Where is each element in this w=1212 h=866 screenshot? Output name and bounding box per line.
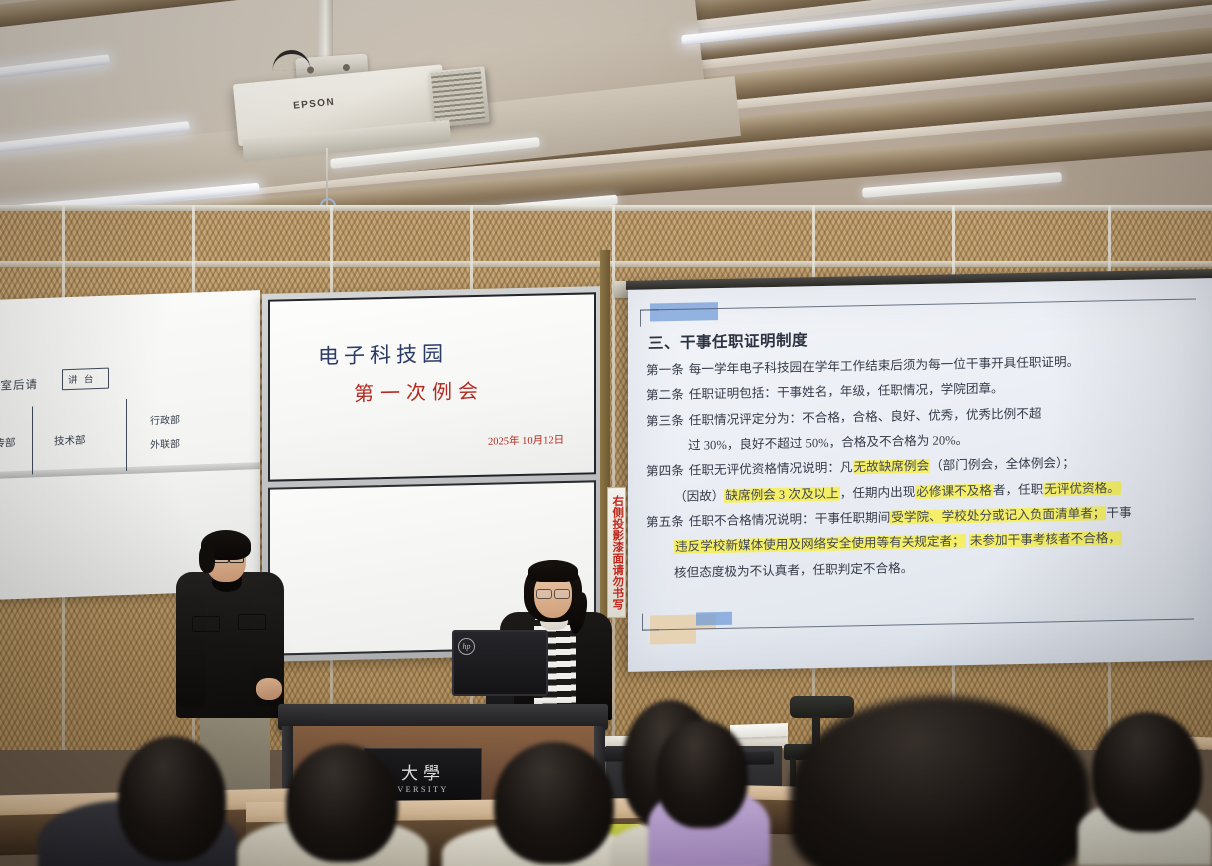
org-chart-node: 宣传部 (0, 435, 16, 451)
audience-member (656, 720, 748, 828)
slide-line: （因故）缺席例会 3 次及以上，任期内出现必修课不及格者，任职无评优资格。 (646, 480, 1200, 504)
eyeglasses-lens (554, 589, 570, 599)
audience-member (118, 736, 226, 862)
whiteboard-title-line2: 第一次例会 (354, 375, 484, 407)
slide-line: 第五条任职不合格情况说明：干事任职期间受学院、学校处分或记入负面清单者；干事 (646, 505, 1200, 529)
audience-member (494, 742, 614, 864)
speaker-hands (256, 678, 282, 700)
speaker-arm-left (176, 596, 206, 708)
classroom-chair-back[interactable] (790, 696, 854, 718)
audience-member (1092, 712, 1202, 832)
slide-text-highlighted: 受学院、学校处分或记入负面清单者； (890, 506, 1106, 524)
org-chart-node: 技术部 (54, 432, 86, 448)
slide-line: 违反学校新媒体使用及网络安全使用等有关规定者； 未参加干事考核者不合格， (646, 531, 1200, 555)
projection-surface-warning: 右侧投影漆面请勿书写 (607, 487, 626, 618)
slide-title: 三、干事任职证明制度 (648, 320, 1200, 353)
jacket-pocket (192, 616, 220, 632)
podium-plaque-en: VERSITY (397, 785, 448, 794)
warning-sign-text: 右侧投影漆面请勿书写 (611, 495, 623, 610)
computer-monitor[interactable]: hp (452, 630, 548, 696)
slide-text: 任职不合格情况说明：干事任职期间 (689, 511, 891, 529)
whiteboard-date: 2025年 10月12日 (488, 432, 564, 449)
podium-plaque-cn: 大學 (401, 759, 445, 784)
slide-text-highlighted: 违反学校新媒体使用及网络安全使用等有关规定者； (674, 535, 966, 555)
slide-text-highlighted: 未参加干事考核者不合格， (969, 531, 1122, 548)
slide-line: 第三条任职情况评定分为：不合格，合格、良好、优秀，优秀比例不超 (646, 404, 1200, 428)
presenter-hair-fringe (528, 560, 578, 582)
slide-line-label: 第一条 (646, 363, 684, 378)
org-chart-node: 外联部 (150, 435, 180, 451)
slide-text: 每一学年电子科技园在学年工作结束后须为每一位干事开具任职证明。 (689, 355, 1079, 377)
slide-decoration-bracket-top (640, 309, 659, 326)
slide-text: （因故） (674, 489, 724, 504)
slide-text: ，任期内出现 (840, 485, 916, 501)
org-chart-connector (126, 399, 127, 471)
slide-decoration-blue-top (650, 302, 718, 321)
eyeglasses-lens (536, 589, 552, 599)
projector-mount-pole (318, 0, 333, 62)
slide-text-highlighted: 无评优资格。 (1043, 481, 1121, 497)
slide-line: 第四条任职无评优资格情况说明：凡无故缺席例会（部门例会，全体例会）； (646, 455, 1200, 479)
slide-line: 过 30%，良好不超过 50%，合格及不合格为 20%。 (646, 429, 1200, 453)
slide-line: 核但态度极为不认真者，任职判定不合格。 (646, 556, 1200, 580)
org-chart-node: 行政部 (150, 411, 180, 427)
whiteboard-header-text: 入室后请 (0, 376, 38, 394)
slide-line: 第二条任职证明包括：干事姓名，年级，任职情况，学院团章。 (646, 379, 1200, 403)
slide-text: 过 30%，良好不超过 50%，合格及不合格为 20%。 (688, 433, 968, 453)
slide-decoration-tan-2 (650, 630, 696, 645)
classroom-scene: EPSON 入室后请 讲 台 宣传部 技术部 行政部 外联部 (0, 0, 1212, 866)
slide-text: 者，任职 (993, 482, 1043, 497)
audience-member (286, 744, 398, 862)
slide-body: 第一条每一学年电子科技园在学年工作结束后须为每一位干事开具任职证明。第二条任职证… (646, 353, 1200, 580)
center-whiteboard-handwriting: 电子科技园 第一次例会 2025年 10月12日 (268, 292, 596, 481)
jacket-pocket (238, 614, 266, 630)
slide-text: 任职证明包括：干事姓名，年级，任职情况，学院团章。 (689, 382, 1004, 402)
slide-text: 任职无评优资格情况说明：凡 (689, 461, 853, 478)
slide-decoration-blue-bottom (696, 612, 732, 626)
slide-line-label: 第五条 (646, 515, 684, 530)
slide-text-highlighted: 无故缺席例会 (853, 459, 931, 475)
slide-line-label: 第二条 (646, 388, 684, 403)
slide-decoration-bracket-bottom (642, 613, 659, 630)
slide-text-highlighted: 缺席例会 3 次及以上 (724, 486, 839, 502)
whiteboard-box-text: 讲 台 (68, 371, 95, 386)
speaker-hair-side (199, 545, 215, 573)
org-chart-connector (32, 406, 33, 474)
slide-text-highlighted: 必修课不及格 (915, 483, 993, 499)
slide-line-label: 第三条 (646, 413, 684, 428)
monitor-brand-logo: hp (458, 638, 475, 655)
slide-text: 干事 (1106, 506, 1131, 521)
whiteboard-title-line1: 电子科技园 (318, 338, 448, 371)
projector-vent (431, 69, 486, 124)
slide-line: 第一条每一学年电子科技园在学年工作结束后须为每一位干事开具任职证明。 (646, 353, 1200, 377)
slide-text: 核但态度极为不认真者，任职判定不合格。 (674, 561, 913, 580)
projection-screen: 三、干事任职证明制度 第一条每一学年电子科技园在学年工作结束后须为每一位干事开具… (628, 278, 1212, 672)
slide-decoration-rule-top (640, 298, 1196, 310)
slide-text: 任职情况评定分为：不合格，合格、良好、优秀，优秀比例不超 (689, 406, 1042, 427)
slide-text: （部门例会，全体例会）； (930, 456, 1075, 473)
paper-sheet (730, 723, 788, 738)
slide-content: 三、干事任职证明制度 第一条每一学年电子科技园在学年工作结束后须为每一位干事开具… (628, 278, 1212, 672)
fluorescent-tube-light (862, 172, 1062, 198)
slide-line-label: 第四条 (646, 464, 684, 479)
